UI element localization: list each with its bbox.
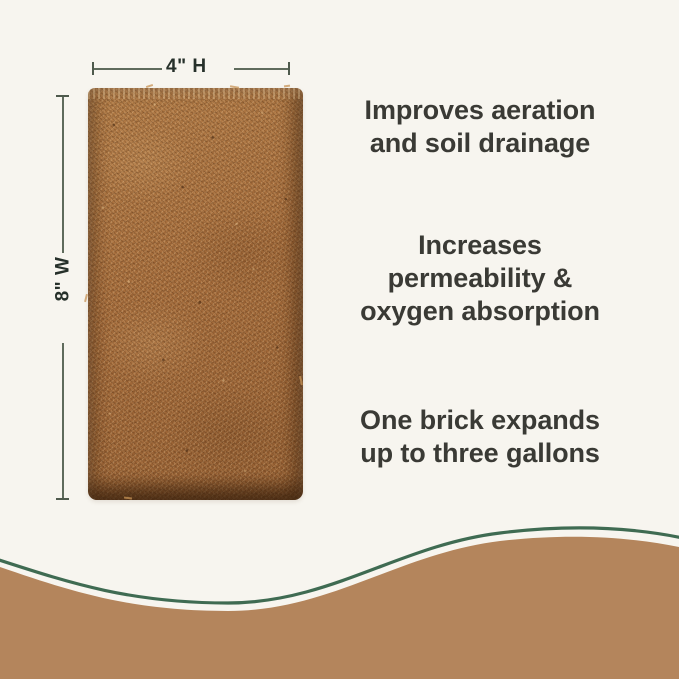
feature-aeration-line-2: and soil drainage: [330, 127, 630, 160]
dimension-left-cap-bottom: [56, 498, 69, 500]
dimension-left-cap-top: [56, 95, 69, 97]
product-feature-graphic: 4" H 8" W Improves aeration and soil dra…: [0, 0, 679, 679]
feature-permeability-line-2: permeability &: [330, 262, 630, 295]
dimension-top-cap-right: [288, 62, 290, 75]
coir-brick-image: [88, 88, 303, 500]
feature-permeability-line-3: oxygen absorption: [330, 295, 630, 328]
feature-aeration-line-1: Improves aeration: [330, 94, 630, 127]
feature-expansion-line-1: One brick expands: [330, 404, 630, 437]
brick-bottom-edge: [88, 474, 303, 500]
dimension-left-line-lower: [62, 343, 64, 500]
feature-expansion-line-2: up to three gallons: [330, 437, 630, 470]
feature-expansion: One brick expands up to three gallons: [330, 404, 630, 470]
brick-top-edge: [88, 88, 303, 99]
dimension-left-line-upper: [62, 95, 64, 253]
feature-aeration: Improves aeration and soil drainage: [330, 94, 630, 160]
dimension-top-line-left: [92, 68, 162, 70]
soil-wave-decoration: [0, 519, 679, 679]
feature-permeability: Increases permeability & oxygen absorpti…: [330, 229, 630, 328]
brick-stray-fiber: [284, 85, 290, 88]
brick-texture: [88, 88, 303, 500]
feature-permeability-line-1: Increases: [330, 229, 630, 262]
dimension-top-label: 4" H: [166, 56, 207, 78]
soil-wave-fill: [0, 537, 679, 679]
dimension-top-line-right: [234, 68, 290, 70]
dimension-left-label: 8" W: [52, 257, 74, 302]
dimension-top-cap-left: [92, 62, 94, 75]
